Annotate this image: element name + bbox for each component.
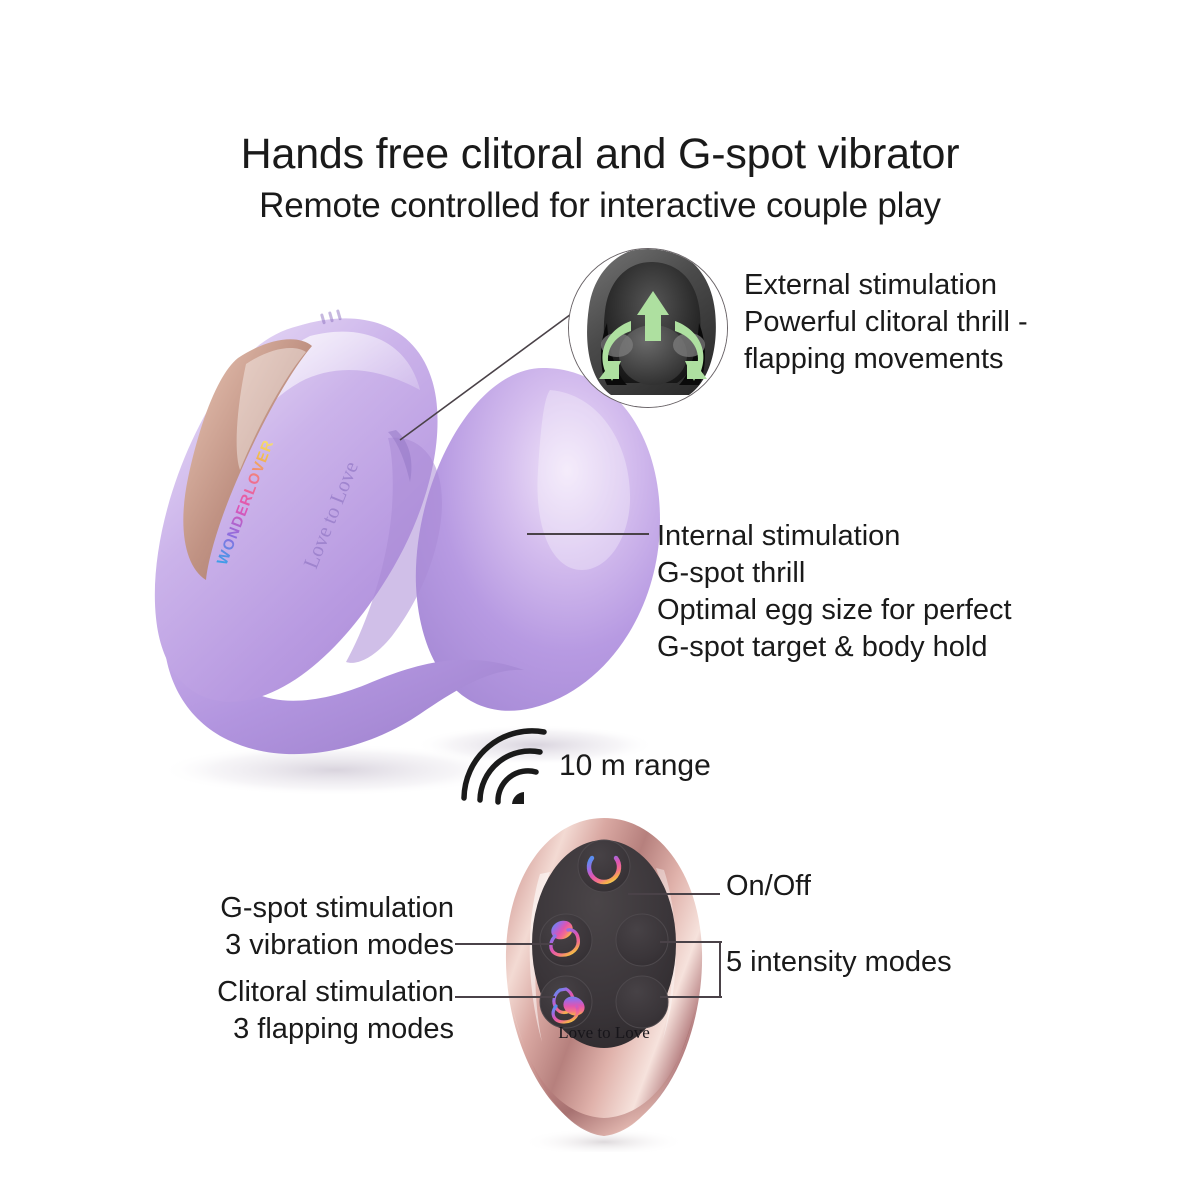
callout-on-off: On/Off bbox=[726, 868, 811, 905]
callout-intensity-modes: 5 intensity modes bbox=[726, 944, 952, 981]
leader-line-clitoral bbox=[455, 996, 555, 998]
callout-gspot-modes: G-spot stimulation 3 vibration modes bbox=[186, 890, 454, 964]
remote-plus-button bbox=[616, 914, 668, 966]
page-title: Hands free clitoral and G-spot vibrator bbox=[0, 128, 1200, 180]
remote-minus-button bbox=[616, 976, 668, 1028]
callout-internal-stimulation: Internal stimulation G-spot thrill Optim… bbox=[657, 518, 1012, 666]
product-internal-egg bbox=[416, 368, 660, 711]
infographic-canvas: Hands free clitoral and G-spot vibrator … bbox=[0, 0, 1200, 1200]
callout-external-stimulation: External stimulation Powerful clitoral t… bbox=[744, 267, 1028, 378]
leader-line-gspot bbox=[455, 943, 555, 945]
leader-line-intensity-minus bbox=[660, 996, 722, 998]
callout-range: 10 m range bbox=[559, 748, 711, 784]
remote-clitoral-mode-button bbox=[540, 976, 592, 1028]
leader-line-onoff bbox=[628, 893, 720, 895]
leader-line-intensity-tie bbox=[719, 941, 721, 997]
remote-power-button bbox=[578, 840, 630, 892]
remote-control-illustration: Love to Love bbox=[498, 816, 710, 1152]
remote-gspot-mode-button bbox=[540, 914, 592, 966]
remote-brand-label: Love to Love bbox=[558, 1023, 650, 1042]
callout-clitoral-modes: Clitoral stimulation 3 flapping modes bbox=[180, 974, 454, 1048]
page-subtitle: Remote controlled for interactive couple… bbox=[0, 184, 1200, 228]
leader-line-internal bbox=[527, 533, 649, 535]
wifi-range-icon bbox=[460, 726, 555, 806]
external-stimulation-detail-inset bbox=[568, 248, 728, 408]
leader-line-intensity-plus bbox=[660, 941, 722, 943]
